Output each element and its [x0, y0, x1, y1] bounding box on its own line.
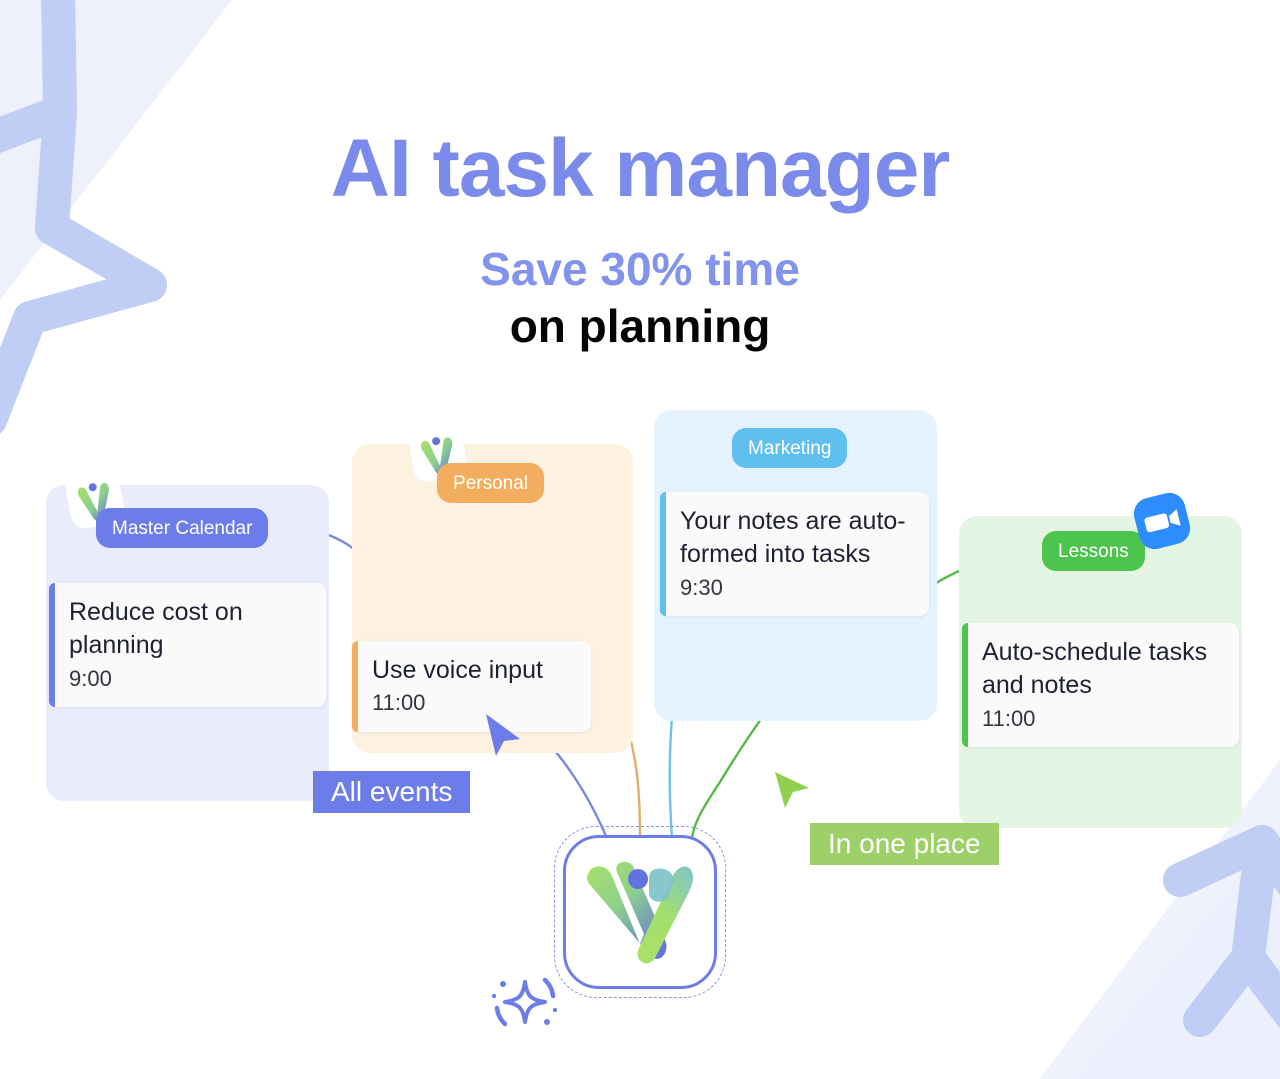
task-title: Auto-schedule tasks and notes	[982, 636, 1223, 703]
page-subtitle-line1: Save 30% time	[0, 243, 1280, 296]
task-title: Use voice input	[372, 654, 575, 687]
task-item-notes-auto-formed[interactable]: Your notes are auto-formed into tasks 9:…	[660, 492, 929, 616]
task-item-use-voice-input[interactable]: Use voice input 11:00	[352, 641, 591, 732]
task-time: 9:30	[680, 573, 913, 603]
poster-canvas: AI task manager Save 30% time on plannin…	[0, 0, 1280, 1079]
ai-sparkle-icon	[489, 966, 561, 1038]
star-outline-icon	[1180, 842, 1280, 1040]
task-item-auto-schedule[interactable]: Auto-schedule tasks and notes 11:00	[962, 623, 1239, 747]
app-logo-tile[interactable]	[554, 826, 726, 998]
v-logo-icon	[581, 856, 699, 968]
page-headline: AI task manager	[0, 126, 1280, 212]
card-badge-master-calendar[interactable]: Master Calendar	[96, 508, 268, 548]
page-subtitle-line2: on planning	[0, 300, 1280, 353]
card-badge-marketing[interactable]: Marketing	[732, 428, 847, 468]
task-time: 9:00	[69, 664, 310, 694]
task-item-reduce-cost[interactable]: Reduce cost on planning 9:00	[49, 583, 326, 707]
task-title: Reduce cost on planning	[69, 596, 310, 663]
cursor-pointer-icon	[771, 770, 813, 812]
card-badge-personal[interactable]: Personal	[437, 463, 544, 503]
cursor-pointer-icon	[480, 712, 524, 758]
task-time: 11:00	[982, 704, 1223, 734]
task-time: 11:00	[372, 688, 575, 718]
label-all-events: All events	[313, 771, 470, 813]
label-in-one-place: In one place	[810, 823, 999, 865]
task-title: Your notes are auto-formed into tasks	[680, 505, 913, 572]
logo-frame	[563, 835, 717, 989]
card-badge-lessons[interactable]: Lessons	[1042, 531, 1145, 571]
